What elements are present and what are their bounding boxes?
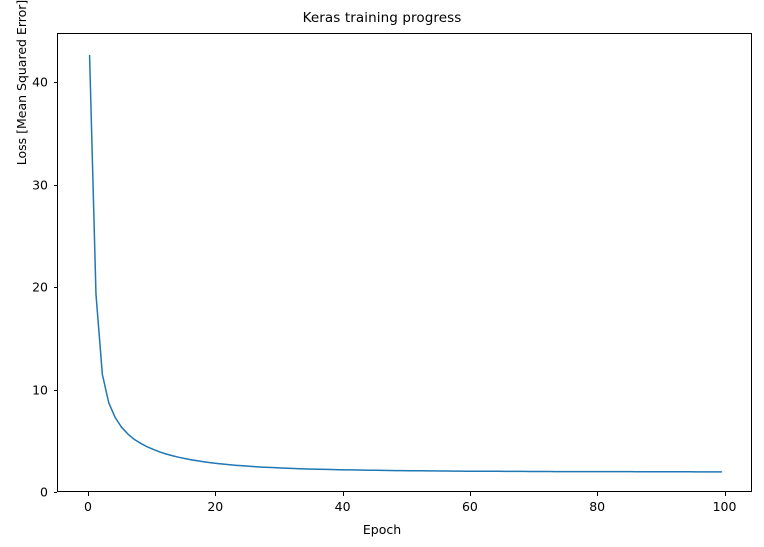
xtick-label-60: 60 bbox=[462, 499, 478, 514]
xtick-mark-20 bbox=[215, 492, 216, 496]
ytick-mark-0 bbox=[54, 492, 58, 493]
xtick-mark-0 bbox=[88, 492, 89, 496]
y-axis-label: Loss [Mean Squared Error] bbox=[14, 0, 30, 312]
ytick-mark-10 bbox=[54, 390, 58, 391]
x-axis-label: Epoch bbox=[0, 522, 764, 537]
xtick-mark-100 bbox=[725, 492, 726, 496]
xtick-label-40: 40 bbox=[335, 499, 351, 514]
loss-curve-svg bbox=[58, 34, 753, 493]
ytick-mark-30 bbox=[54, 185, 58, 186]
xtick-label-20: 20 bbox=[207, 499, 223, 514]
xtick-label-80: 80 bbox=[589, 499, 605, 514]
xtick-label-0: 0 bbox=[84, 499, 92, 514]
loss-line-series bbox=[90, 56, 722, 472]
ytick-mark-40 bbox=[54, 82, 58, 83]
xtick-label-100: 100 bbox=[713, 499, 737, 514]
plot-axes bbox=[57, 33, 752, 492]
xtick-mark-80 bbox=[597, 492, 598, 496]
ytick-mark-20 bbox=[54, 287, 58, 288]
matplotlib-figure: Keras training progress 0 10 20 30 40 0 … bbox=[0, 0, 764, 547]
page-title: Keras training progress bbox=[0, 10, 764, 26]
xtick-mark-40 bbox=[343, 492, 344, 496]
xtick-mark-60 bbox=[470, 492, 471, 496]
y-axis-label-container: Loss [Mean Squared Error] bbox=[14, 33, 30, 492]
